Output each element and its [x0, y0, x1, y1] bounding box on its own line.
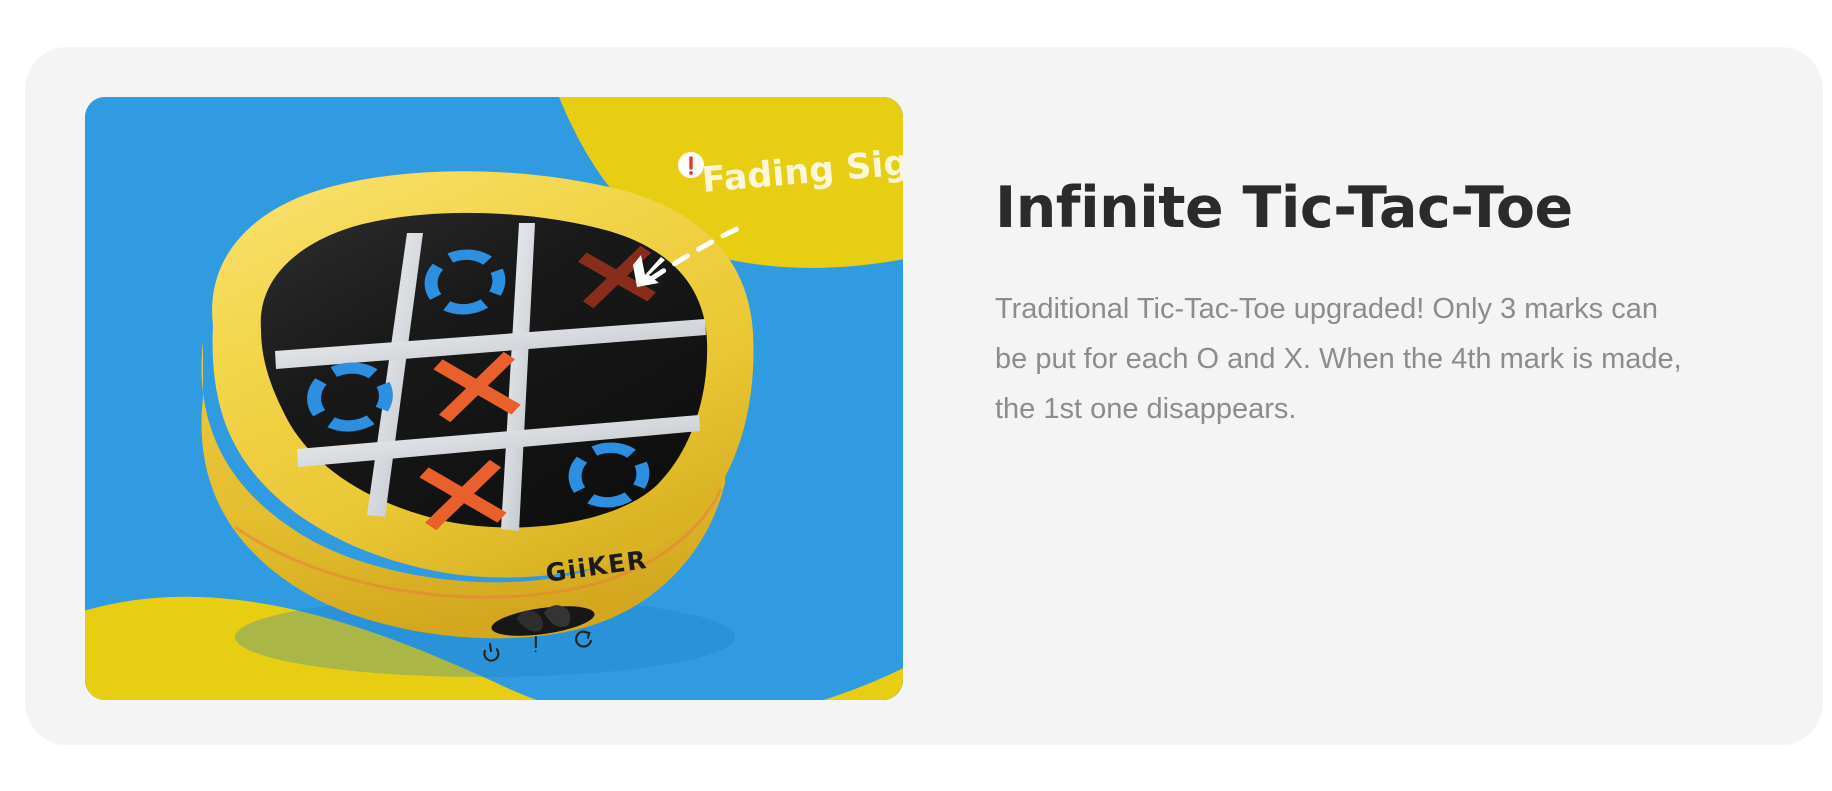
product-image-panel: GiiKER [85, 97, 903, 700]
feature-description: Traditional Tic-Tac-Toe upgraded! Only 3… [995, 285, 1685, 435]
product-illustration: GiiKER [85, 97, 903, 700]
page-title: Infinite Tic-Tac-Toe [995, 177, 1755, 241]
page-root: GiiKER [0, 0, 1832, 791]
feature-card: GiiKER [25, 47, 1823, 745]
feature-text-column: Infinite Tic-Tac-Toe Traditional Tic-Tac… [995, 177, 1755, 434]
